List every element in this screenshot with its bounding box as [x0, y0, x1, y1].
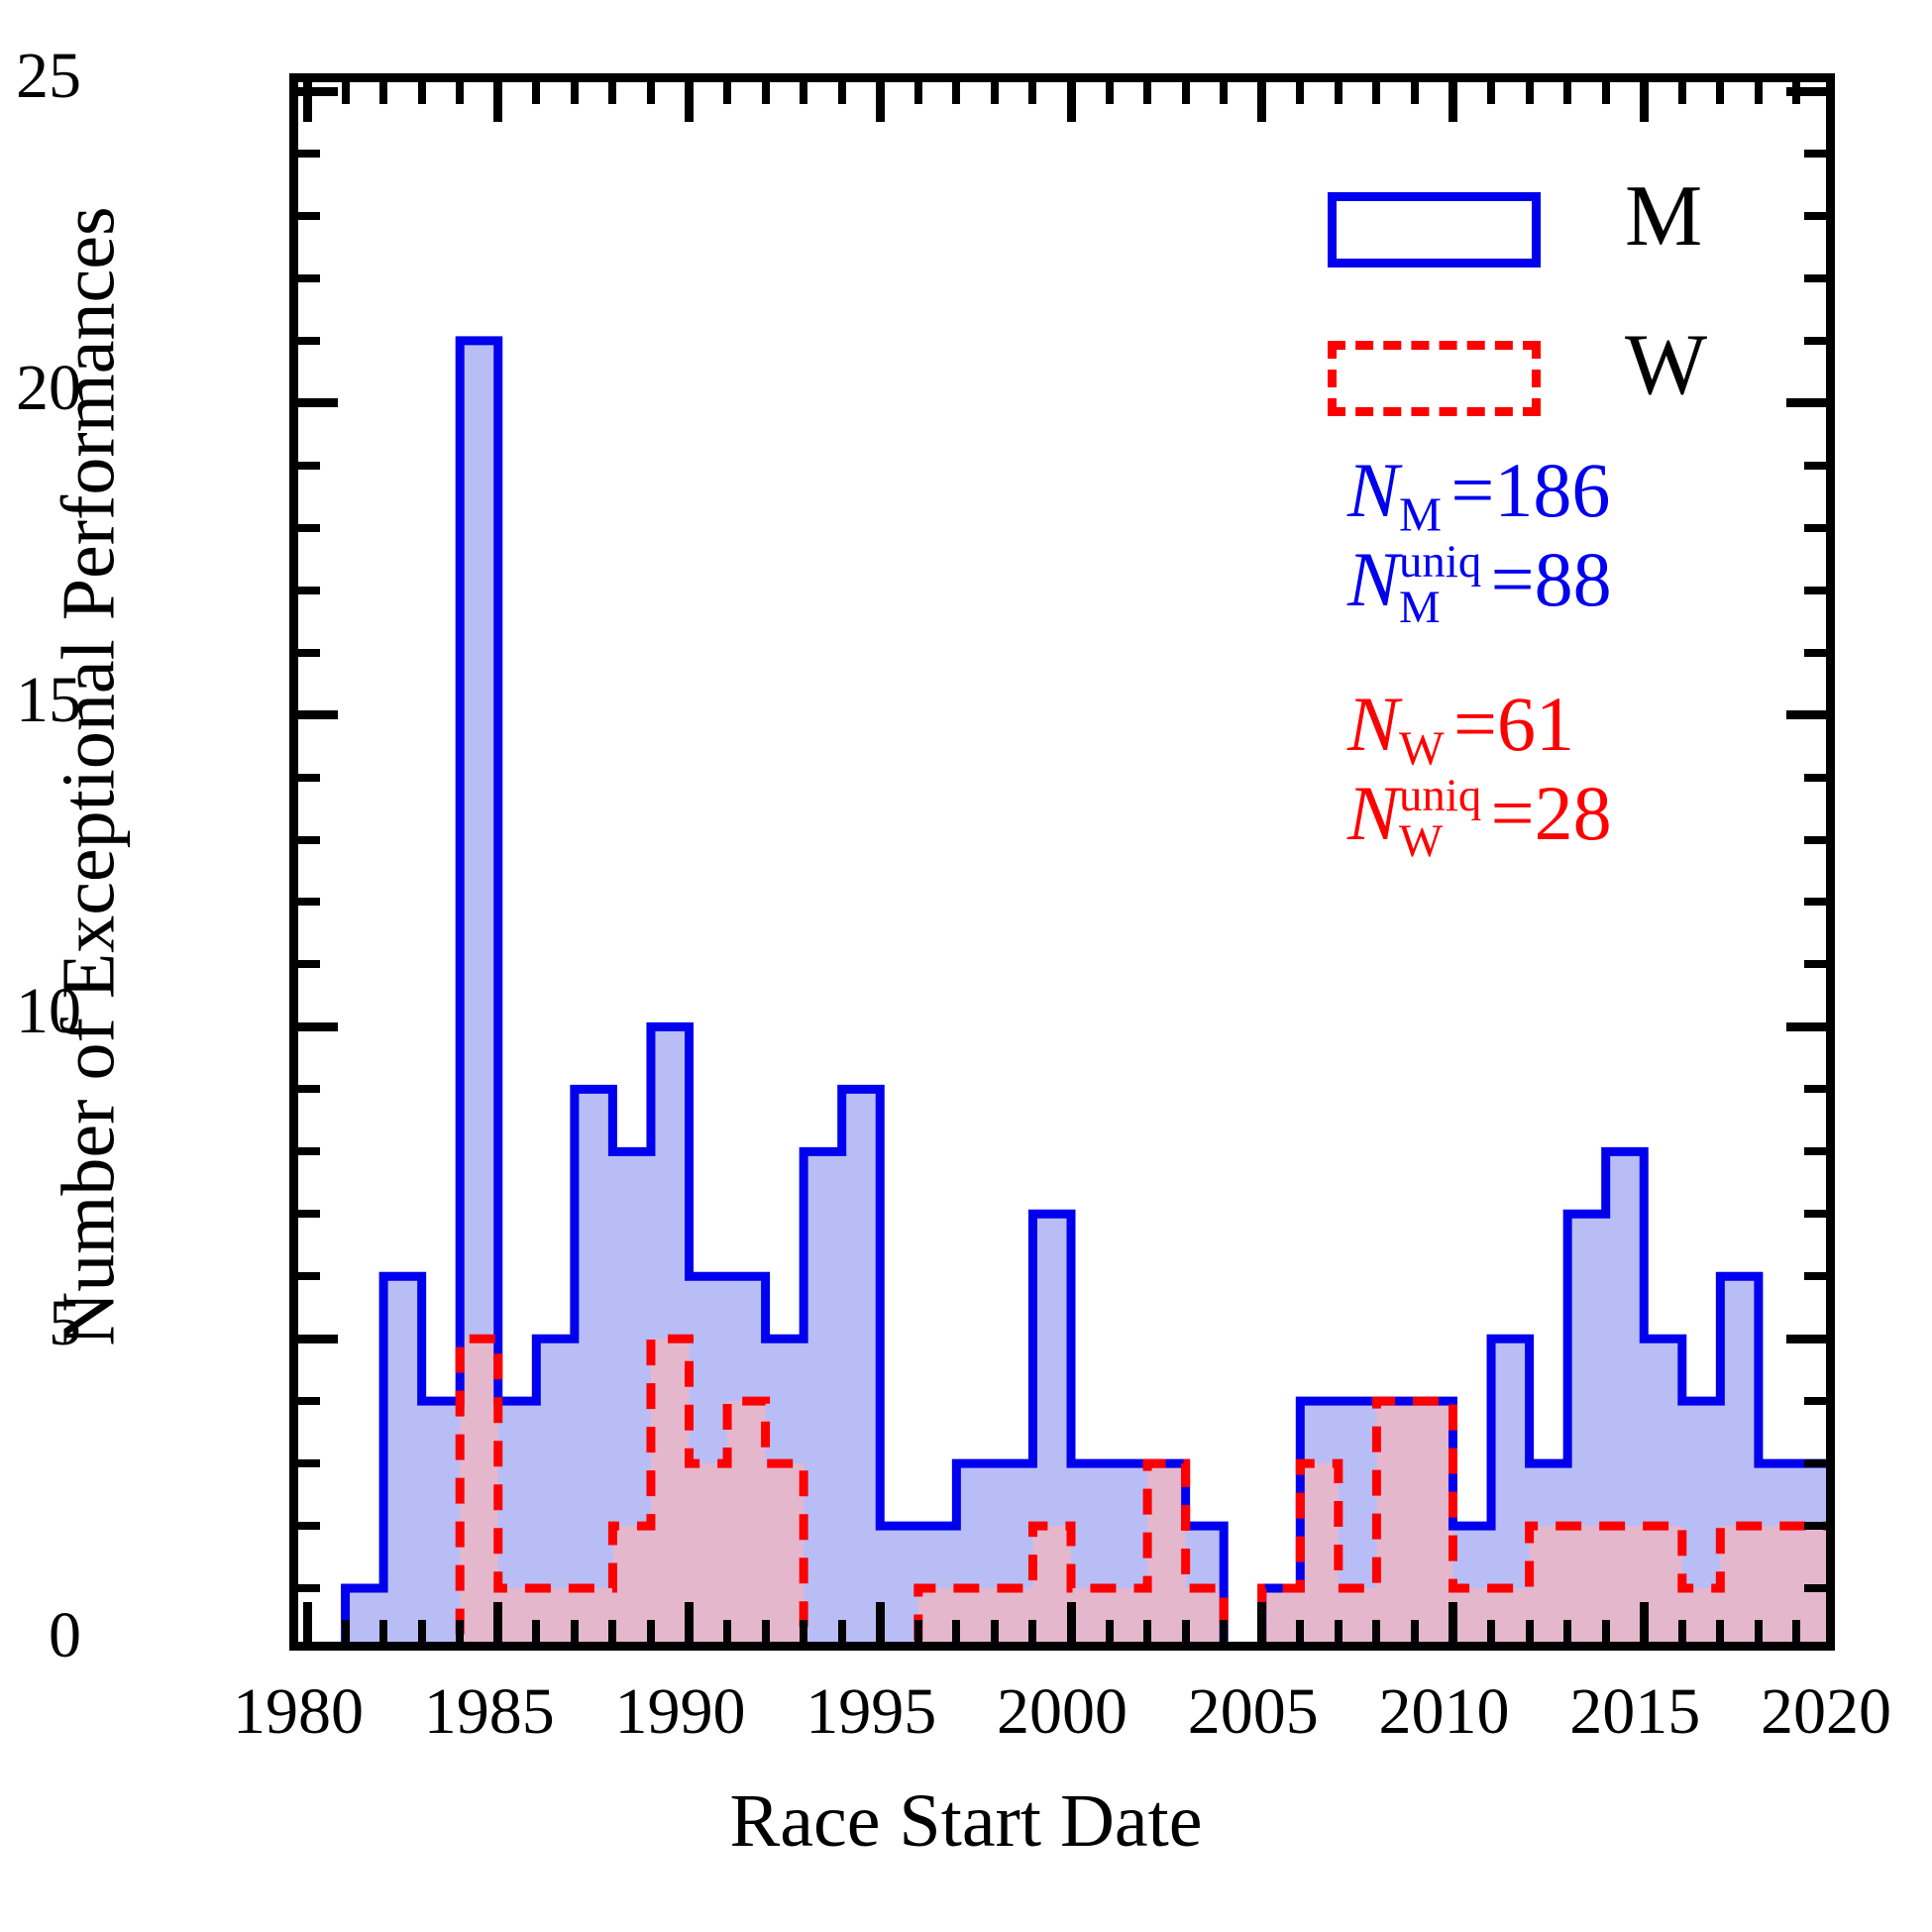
- y-tick-right-9: [1804, 1085, 1826, 1093]
- x-tick-top-1983: [418, 82, 426, 104]
- legend-label-w: W: [1625, 315, 1707, 415]
- x-tick-1981: [342, 1620, 350, 1642]
- x-tick-2017: [1716, 1620, 1724, 1642]
- y-tick-24: [298, 150, 320, 158]
- y-tick-2: [298, 1522, 320, 1530]
- x-tick-2004: [1220, 1620, 1228, 1642]
- x-tick-top-1992: [762, 82, 770, 104]
- x-tick-top-2020: [1831, 82, 1836, 122]
- x-tick-top-2009: [1411, 82, 1419, 104]
- x-tick-top-2001: [1106, 82, 1114, 104]
- x-tick-top-2019: [1792, 82, 1800, 104]
- y-tick-label-5: 5: [0, 1286, 81, 1361]
- x-tick-top-1980: [303, 82, 312, 122]
- x-tick-2006: [1296, 1620, 1304, 1642]
- y-tick-13: [298, 836, 320, 844]
- y-tick-6: [298, 1272, 320, 1280]
- y-axis-title: Number of Exceptional Performances: [47, 133, 133, 1421]
- annotation-w-unique-symbol: N: [1347, 770, 1399, 856]
- x-tick-1996: [914, 1620, 922, 1642]
- x-tick-top-2012: [1526, 82, 1534, 104]
- y-tick-21: [298, 337, 320, 345]
- x-tick-1989: [647, 1620, 655, 1642]
- y-tick-right-4: [1804, 1397, 1826, 1405]
- annotation-m-unique-eq: =: [1491, 536, 1535, 622]
- x-tick-top-1999: [1028, 82, 1036, 104]
- x-tick-2010: [1449, 1602, 1457, 1642]
- x-tick-top-1981: [342, 82, 350, 104]
- x-tick-top-1997: [952, 82, 960, 104]
- x-tick-1984: [456, 1620, 464, 1642]
- x-tick-top-2000: [1067, 82, 1076, 122]
- y-tick-right-12: [1804, 898, 1826, 906]
- y-tick-right-3: [1804, 1459, 1826, 1467]
- y-tick-14: [298, 774, 320, 782]
- x-tick-top-2014: [1602, 82, 1610, 104]
- y-tick-right-1: [1804, 1584, 1826, 1592]
- x-tick-1994: [838, 1620, 846, 1642]
- legend-label-m: M: [1625, 166, 1702, 267]
- x-tick-top-2003: [1182, 82, 1190, 104]
- x-tick-top-1998: [991, 82, 999, 104]
- x-tick-top-1994: [838, 82, 846, 104]
- x-tick-label-2020: 2020: [1697, 1674, 1932, 1750]
- x-tick-2002: [1143, 1620, 1151, 1642]
- y-tick-right-10: [1786, 1022, 1826, 1031]
- x-tick-top-1987: [571, 82, 579, 104]
- y-tick-20: [298, 398, 338, 407]
- x-tick-1993: [800, 1620, 807, 1642]
- y-tick-right-6: [1804, 1272, 1826, 1280]
- x-tick-top-1986: [532, 82, 540, 104]
- legend-row-m: M: [1328, 178, 1843, 327]
- x-tick-top-1990: [685, 82, 694, 122]
- x-tick-top-2006: [1296, 82, 1304, 104]
- y-tick-1: [298, 1584, 320, 1592]
- x-tick-2011: [1487, 1620, 1495, 1642]
- annotation-w-total-symbol: N: [1347, 681, 1399, 767]
- x-tick-top-2008: [1372, 82, 1380, 104]
- y-tick-10: [298, 1022, 338, 1031]
- y-tick-8: [298, 1147, 320, 1155]
- x-tick-top-1988: [608, 82, 616, 104]
- x-tick-top-2005: [1257, 82, 1266, 122]
- annotation-m-total-value: 186: [1494, 447, 1610, 533]
- x-tick-top-2018: [1755, 82, 1763, 104]
- chart-root: Number of Exceptional Performances Race …: [0, 0, 1932, 1932]
- x-tick-2001: [1106, 1620, 1114, 1642]
- x-tick-top-2002: [1143, 82, 1151, 104]
- legend-key-m: [1328, 192, 1541, 268]
- annotation-w-unique-eq: =: [1491, 770, 1535, 856]
- x-tick-top-1989: [647, 82, 655, 104]
- x-tick-top-2017: [1716, 82, 1724, 104]
- x-tick-2012: [1526, 1620, 1534, 1642]
- annotation-m-total-sub: M: [1399, 489, 1442, 542]
- x-tick-top-2011: [1487, 82, 1495, 104]
- x-tick-1988: [608, 1620, 616, 1642]
- y-tick-19: [298, 462, 320, 470]
- x-tick-2000: [1067, 1602, 1076, 1642]
- x-tick-1992: [762, 1620, 770, 1642]
- annotation-m-unique-symbol: N: [1347, 536, 1399, 622]
- y-tick-3: [298, 1459, 320, 1467]
- annotation-m-unique-sup: uniq: [1399, 540, 1481, 586]
- x-tick-top-2010: [1449, 82, 1457, 122]
- y-tick-5: [298, 1335, 338, 1343]
- annotation-w-total-sub: W: [1399, 722, 1445, 775]
- x-tick-1987: [571, 1620, 579, 1642]
- x-tick-2005: [1257, 1602, 1266, 1642]
- y-tick-right-8: [1804, 1147, 1826, 1155]
- x-tick-top-2013: [1563, 82, 1571, 104]
- y-tick-15: [298, 710, 338, 719]
- x-axis-title: Race Start Date: [0, 1778, 1932, 1865]
- x-tick-2016: [1678, 1620, 1686, 1642]
- y-tick-right-11: [1804, 960, 1826, 968]
- y-tick-23: [298, 212, 320, 220]
- x-tick-top-2016: [1678, 82, 1686, 104]
- y-tick-22: [298, 274, 320, 282]
- y-tick-label-25: 25: [0, 39, 81, 114]
- x-tick-top-2004: [1220, 82, 1228, 104]
- annotation-m-unique-value: 88: [1535, 536, 1612, 622]
- y-tick-right-24: [1804, 150, 1826, 158]
- annotation-w-unique-value: 28: [1535, 770, 1612, 856]
- x-tick-2013: [1563, 1620, 1571, 1642]
- y-tick-4: [298, 1397, 320, 1405]
- y-tick-16: [298, 649, 320, 657]
- x-tick-top-1993: [800, 82, 807, 104]
- y-tick-18: [298, 524, 320, 532]
- annotations: NM=186 NuniqM=88 NW=61 NuniqW=28: [1347, 451, 1902, 867]
- x-tick-2015: [1640, 1602, 1649, 1642]
- y-tick-11: [298, 960, 320, 968]
- x-tick-1982: [379, 1620, 387, 1642]
- y-tick-9: [298, 1085, 320, 1093]
- y-tick-17: [298, 587, 320, 594]
- y-tick-7: [298, 1210, 320, 1218]
- x-tick-2020: [1831, 1602, 1836, 1642]
- x-tick-2009: [1411, 1620, 1419, 1642]
- annotation-m-total-symbol: N: [1347, 447, 1399, 533]
- y-tick-right-2: [1804, 1522, 1826, 1530]
- x-tick-2018: [1755, 1620, 1763, 1642]
- annotation-m-unique-supsub: uniqM: [1399, 540, 1481, 631]
- x-tick-1991: [723, 1620, 731, 1642]
- y-tick-label-10: 10: [0, 974, 81, 1049]
- annotation-w-total: NW=61: [1347, 685, 1902, 774]
- x-tick-1980: [303, 1602, 312, 1642]
- annotation-m-total: NM=186: [1347, 451, 1902, 540]
- y-tick-label-20: 20: [0, 351, 81, 426]
- x-tick-1997: [952, 1620, 960, 1642]
- x-tick-1986: [532, 1620, 540, 1642]
- x-tick-1990: [685, 1602, 694, 1642]
- annotation-m-unique-sub: M: [1399, 586, 1481, 631]
- x-tick-2014: [1602, 1620, 1610, 1642]
- x-tick-top-1991: [723, 82, 731, 104]
- y-tick-0: [298, 1647, 338, 1652]
- x-tick-2008: [1372, 1620, 1380, 1642]
- x-tick-top-1984: [456, 82, 464, 104]
- annotation-w-total-value: 61: [1497, 681, 1574, 767]
- annotation-m-unique: NuniqM=88: [1347, 540, 1902, 633]
- x-tick-1985: [493, 1602, 502, 1642]
- x-tick-1983: [418, 1620, 426, 1642]
- y-tick-label-15: 15: [0, 663, 81, 738]
- annotation-w-unique-sup: uniq: [1399, 774, 1481, 819]
- x-tick-top-1982: [379, 82, 387, 104]
- x-tick-top-1985: [493, 82, 502, 122]
- annotation-m-total-eq: =: [1450, 447, 1494, 533]
- annotation-w-total-eq: =: [1453, 681, 1497, 767]
- y-tick-12: [298, 898, 320, 906]
- x-tick-2019: [1792, 1620, 1800, 1642]
- x-tick-2007: [1335, 1620, 1342, 1642]
- y-tick-right-0: [1786, 1647, 1826, 1652]
- x-tick-1995: [876, 1602, 885, 1642]
- y-tick-label-0: 0: [0, 1598, 81, 1673]
- legend-key-w: [1328, 341, 1541, 416]
- x-tick-1998: [991, 1620, 999, 1642]
- x-tick-top-2015: [1640, 82, 1649, 122]
- x-tick-top-1996: [914, 82, 922, 104]
- annotation-w-unique: NuniqW=28: [1347, 774, 1902, 867]
- annotation-gap: [1347, 633, 1902, 685]
- legend: M W: [1328, 178, 1843, 476]
- x-tick-2003: [1182, 1620, 1190, 1642]
- annotation-w-unique-supsub: uniqW: [1399, 774, 1481, 865]
- x-tick-top-1995: [876, 82, 885, 122]
- x-tick-top-2007: [1335, 82, 1342, 104]
- y-tick-right-5: [1786, 1335, 1826, 1343]
- annotation-w-unique-sub: W: [1399, 819, 1481, 865]
- x-tick-1999: [1028, 1620, 1036, 1642]
- y-tick-right-7: [1804, 1210, 1826, 1218]
